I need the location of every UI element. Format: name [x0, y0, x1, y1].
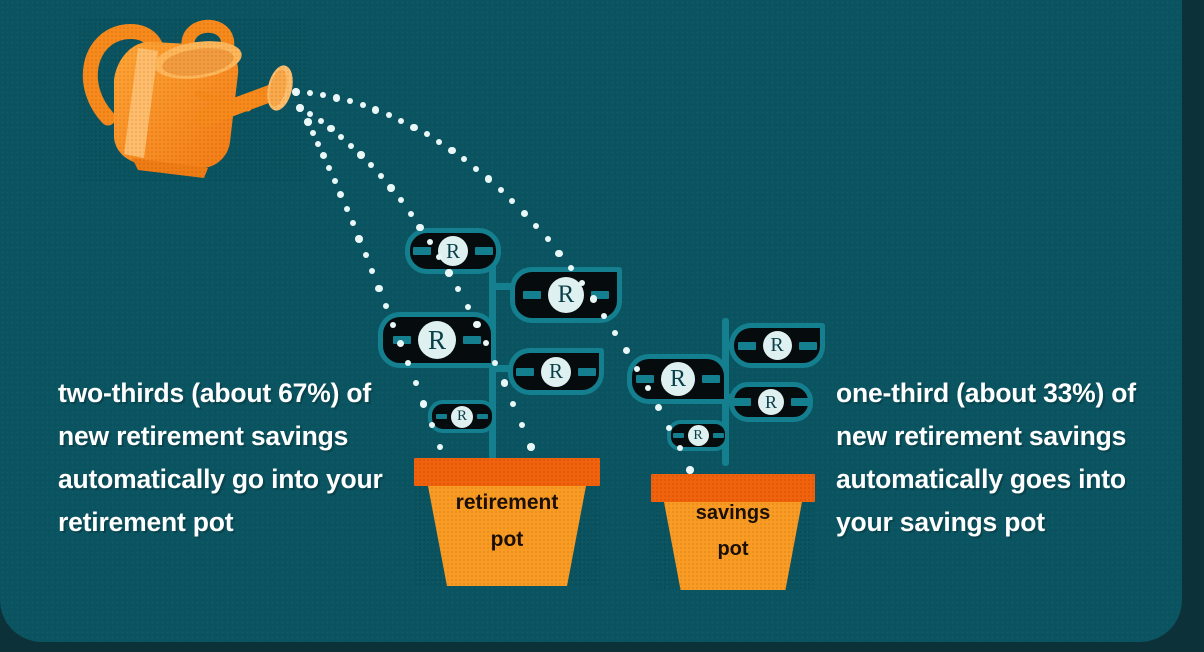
infographic-card: R R R R [0, 0, 1182, 642]
pot-rim [651, 474, 815, 502]
leaf-dash-left [523, 291, 541, 299]
water-droplet-icon [510, 401, 516, 407]
water-droplet-icon [416, 224, 424, 232]
leaf-dash-right [799, 342, 817, 350]
rand-coin-icon: R [438, 236, 468, 266]
leaf-dash-right [477, 414, 488, 419]
water-droplet-icon [527, 443, 535, 451]
water-droplet-icon [601, 313, 607, 319]
water-droplet-icon [350, 220, 356, 226]
water-droplet-icon [347, 98, 353, 104]
water-droplet-icon [436, 139, 442, 145]
water-droplet-icon [372, 106, 380, 114]
water-droplet-icon [360, 102, 366, 108]
retirement-pot[interactable]: retirement pot [414, 458, 600, 586]
rand-coin-icon: R [661, 362, 695, 396]
water-droplet-icon [332, 178, 338, 184]
water-droplet-icon [315, 141, 321, 147]
water-droplet-icon [498, 187, 504, 193]
water-droplet-icon [408, 211, 414, 217]
water-droplet-icon [448, 147, 456, 155]
water-droplet-icon [326, 165, 332, 171]
money-leaf-icon: R [729, 323, 825, 368]
water-droplet-icon [337, 191, 345, 199]
water-droplet-icon [509, 198, 515, 204]
money-leaf-icon: R [405, 228, 501, 274]
leaf-dash-left [673, 433, 684, 438]
water-droplet-icon [307, 111, 313, 117]
pot-body: retirement pot [428, 486, 586, 586]
leaf-dash-left [733, 398, 751, 406]
water-droplet-icon [410, 124, 418, 132]
water-droplet-icon [390, 322, 396, 328]
savings-pot[interactable]: savings pot [651, 474, 815, 590]
water-droplet-icon [320, 152, 328, 160]
leaf-dash-left [436, 414, 447, 419]
water-droplet-icon [378, 173, 384, 179]
leaf-dash-right [713, 433, 724, 438]
water-droplet-icon [465, 304, 471, 310]
rand-coin-icon: R [688, 425, 709, 446]
water-droplet-icon [473, 321, 481, 329]
pot-label-line1: retirement [456, 492, 559, 529]
water-droplet-icon [333, 94, 341, 102]
water-droplet-icon [473, 166, 479, 172]
water-droplet-icon [357, 151, 365, 159]
water-droplet-icon [568, 265, 574, 271]
leaf-dash-right [475, 247, 493, 255]
water-droplet-icon [461, 156, 467, 162]
water-droplet-icon [427, 239, 433, 245]
water-droplet-icon [363, 252, 369, 258]
water-droplet-icon [686, 466, 694, 474]
water-droplet-icon [348, 143, 354, 149]
water-droplet-icon [344, 206, 350, 212]
water-droplet-icon [386, 112, 392, 118]
water-droplet-icon [398, 197, 404, 203]
water-droplet-icon [310, 130, 316, 136]
savings-pot-caption: one-third (about 33%) of new retirement … [836, 372, 1166, 544]
water-droplet-icon [318, 118, 324, 124]
rand-coin-icon: R [451, 406, 473, 428]
leaf-dash-left [738, 342, 756, 350]
pot-rim [414, 458, 600, 486]
money-leaf-icon: R [729, 382, 813, 422]
money-leaf-icon: R [508, 348, 604, 395]
water-droplet-icon [485, 175, 493, 183]
rand-coin-icon: R [541, 357, 571, 387]
water-droplet-icon [645, 385, 651, 391]
leaf-dash-right [578, 368, 596, 376]
retirement-pot-caption: two-thirds (about 67%) of new retirement… [58, 372, 408, 544]
rand-coin-icon: R [758, 389, 784, 415]
water-droplet-icon [307, 90, 313, 96]
leaf-dash-left [636, 375, 654, 383]
leaf-dash-right [791, 398, 809, 406]
water-droplet-icon [398, 118, 404, 124]
water-droplet-icon [292, 88, 300, 96]
water-droplet-icon [368, 162, 374, 168]
water-droplet-icon [521, 210, 529, 218]
leaf-dash-left [413, 247, 431, 255]
leaf-dash-right [702, 375, 720, 383]
water-droplet-icon [501, 379, 509, 387]
water-droplet-icon [327, 125, 335, 133]
leaf-dash-right [463, 336, 481, 344]
water-droplet-icon [445, 269, 453, 277]
pot-label-line2: pot [456, 529, 559, 566]
watering-can-icon [78, 18, 308, 183]
water-droplet-icon [555, 250, 563, 258]
rand-coin-icon: R [763, 331, 792, 360]
pot-body: savings pot [664, 502, 802, 590]
water-droplet-icon [492, 360, 498, 366]
pot-label-line2: pot [696, 539, 770, 575]
water-droplet-icon [304, 118, 312, 126]
pot-label-line1: savings [696, 503, 770, 539]
water-droplet-icon [424, 131, 430, 137]
water-droplet-icon [387, 184, 395, 192]
infographic-canvas: R R R R [0, 0, 1204, 652]
water-droplet-icon [666, 425, 672, 431]
water-droplet-icon [296, 104, 304, 112]
water-droplet-icon [375, 285, 383, 293]
water-droplet-icon [338, 134, 344, 140]
savings-money-plant: R R R R [625, 310, 845, 465]
retirement-money-plant: R R R R [370, 215, 640, 465]
money-leaf-icon: R [428, 400, 496, 433]
water-droplet-icon [355, 235, 363, 243]
money-leaf-icon: R [627, 354, 729, 404]
water-droplet-icon [320, 92, 326, 98]
water-droplet-icon [590, 295, 598, 303]
water-droplet-icon [634, 366, 640, 372]
rand-coin-icon: R [418, 321, 456, 359]
leaf-dash-left [516, 368, 534, 376]
